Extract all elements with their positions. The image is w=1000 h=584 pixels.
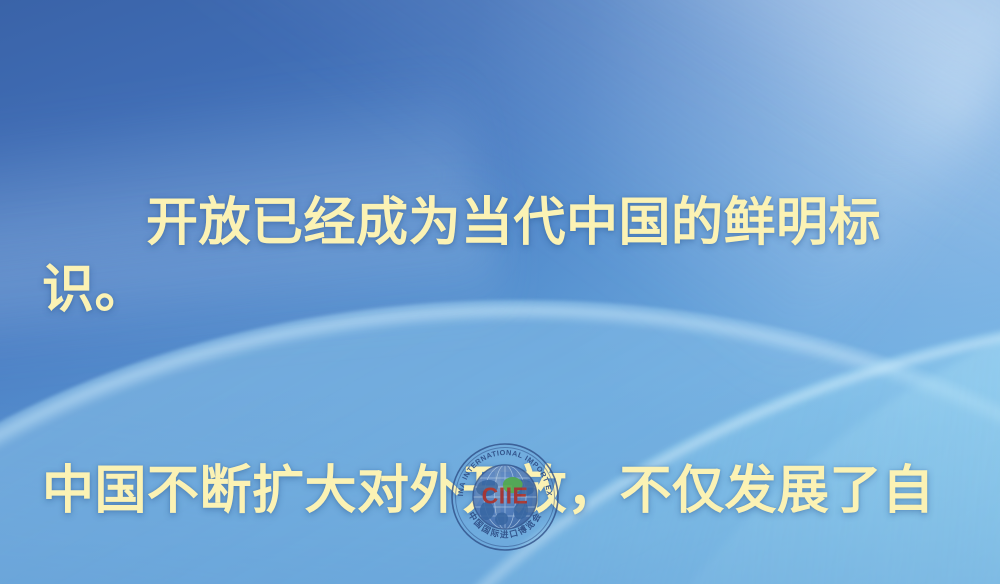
- emblem-acronym: CIIE: [482, 483, 529, 509]
- headline-line-1: 开放已经成为当代中国的鲜明标识。: [42, 190, 958, 324]
- poster-canvas: 开放已经成为当代中国的鲜明标识。 中国不断扩大对外开放，不仅发展了自 己，也造福…: [0, 0, 1000, 584]
- ciie-logo: CHINA INTERNATIONAL IMPORT EXPO 中国国际进口博览…: [449, 441, 561, 553]
